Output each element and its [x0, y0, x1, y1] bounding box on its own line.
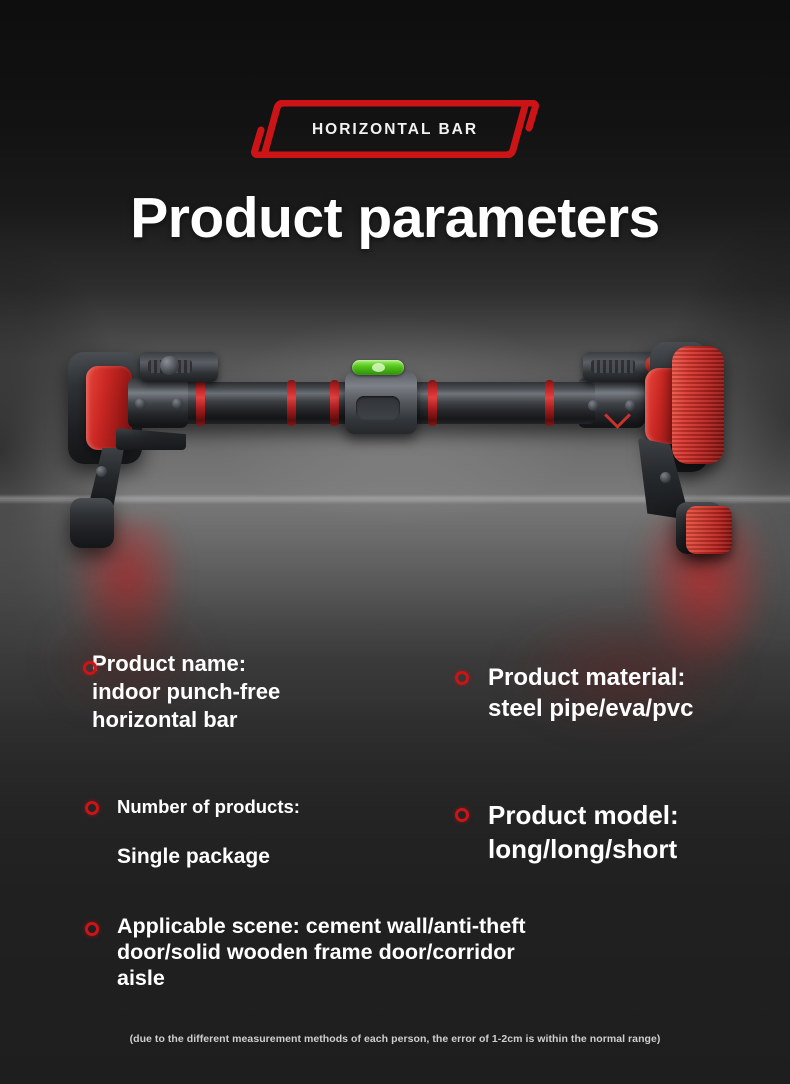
shaft-ring-4	[428, 380, 437, 426]
product-image	[0, 320, 790, 580]
bullet-icon	[83, 661, 97, 675]
spec-line: Number of products:	[117, 795, 300, 819]
bullet-icon	[455, 671, 469, 685]
spec-number-of-products: Number of products: Single package	[117, 795, 300, 870]
spec-line: horizontal bar	[92, 706, 280, 734]
spec-line: Applicable scene: cement wall/anti-theft	[117, 913, 526, 939]
spec-line: Product name:	[92, 650, 280, 678]
bracket-screw-right	[660, 472, 671, 483]
spec-line: Product model:	[488, 798, 679, 832]
shaft-ring-2	[287, 380, 296, 426]
shaft-ring-1	[196, 380, 205, 426]
bullet-icon	[455, 808, 469, 822]
bullet-icon	[85, 801, 99, 815]
bracket-screw-left	[96, 466, 107, 477]
spec-line: long/long/short	[488, 832, 679, 866]
spec-product-material: Product material: steel pipe/eva/pvc	[488, 662, 693, 724]
measurement-disclaimer: (due to the different measurement method…	[0, 1033, 790, 1045]
clamp-screw-left-b	[172, 398, 183, 409]
spec-line: door/solid wooden frame door/corridor	[117, 939, 526, 965]
spec-line: steel pipe/eva/pvc	[488, 693, 693, 724]
shaft-ring-3	[330, 380, 339, 426]
shaft-ring-5	[545, 380, 554, 426]
banner: HORIZONTAL BAR	[247, 100, 543, 158]
center-housing-inset	[356, 396, 400, 420]
clamp-screw-left-a	[135, 398, 146, 409]
spec-line: indoor punch-free	[92, 678, 280, 706]
mount-foot-cushion-right	[686, 506, 732, 554]
page-title: Product parameters	[0, 190, 790, 247]
mount-cushion-right	[672, 346, 724, 464]
clamp-knob-left	[160, 356, 179, 375]
bubble-level-bubble	[372, 363, 385, 372]
spec-line: Single package	[117, 844, 300, 870]
mount-arm-left	[116, 428, 186, 450]
clamp-left	[140, 352, 218, 382]
background-bottom-fade	[0, 700, 790, 1084]
spec-product-name: Product name: indoor punch-free horizont…	[92, 650, 280, 734]
clamp-screw-right-a	[588, 400, 599, 411]
spec-product-model: Product model: long/long/short	[488, 798, 679, 866]
spec-line: aisle	[117, 965, 526, 991]
bullet-icon	[85, 922, 99, 936]
clamp-screw-right-b	[625, 400, 636, 411]
banner-label: HORIZONTAL BAR	[247, 101, 543, 159]
spec-line: Product material:	[488, 662, 693, 693]
product-parameters-page: HORIZONTAL BAR Product parameters	[0, 0, 790, 1084]
spec-applicable-scene: Applicable scene: cement wall/anti-theft…	[117, 913, 526, 991]
mount-foot-left	[70, 498, 114, 548]
shaft-segment-right	[420, 382, 595, 424]
